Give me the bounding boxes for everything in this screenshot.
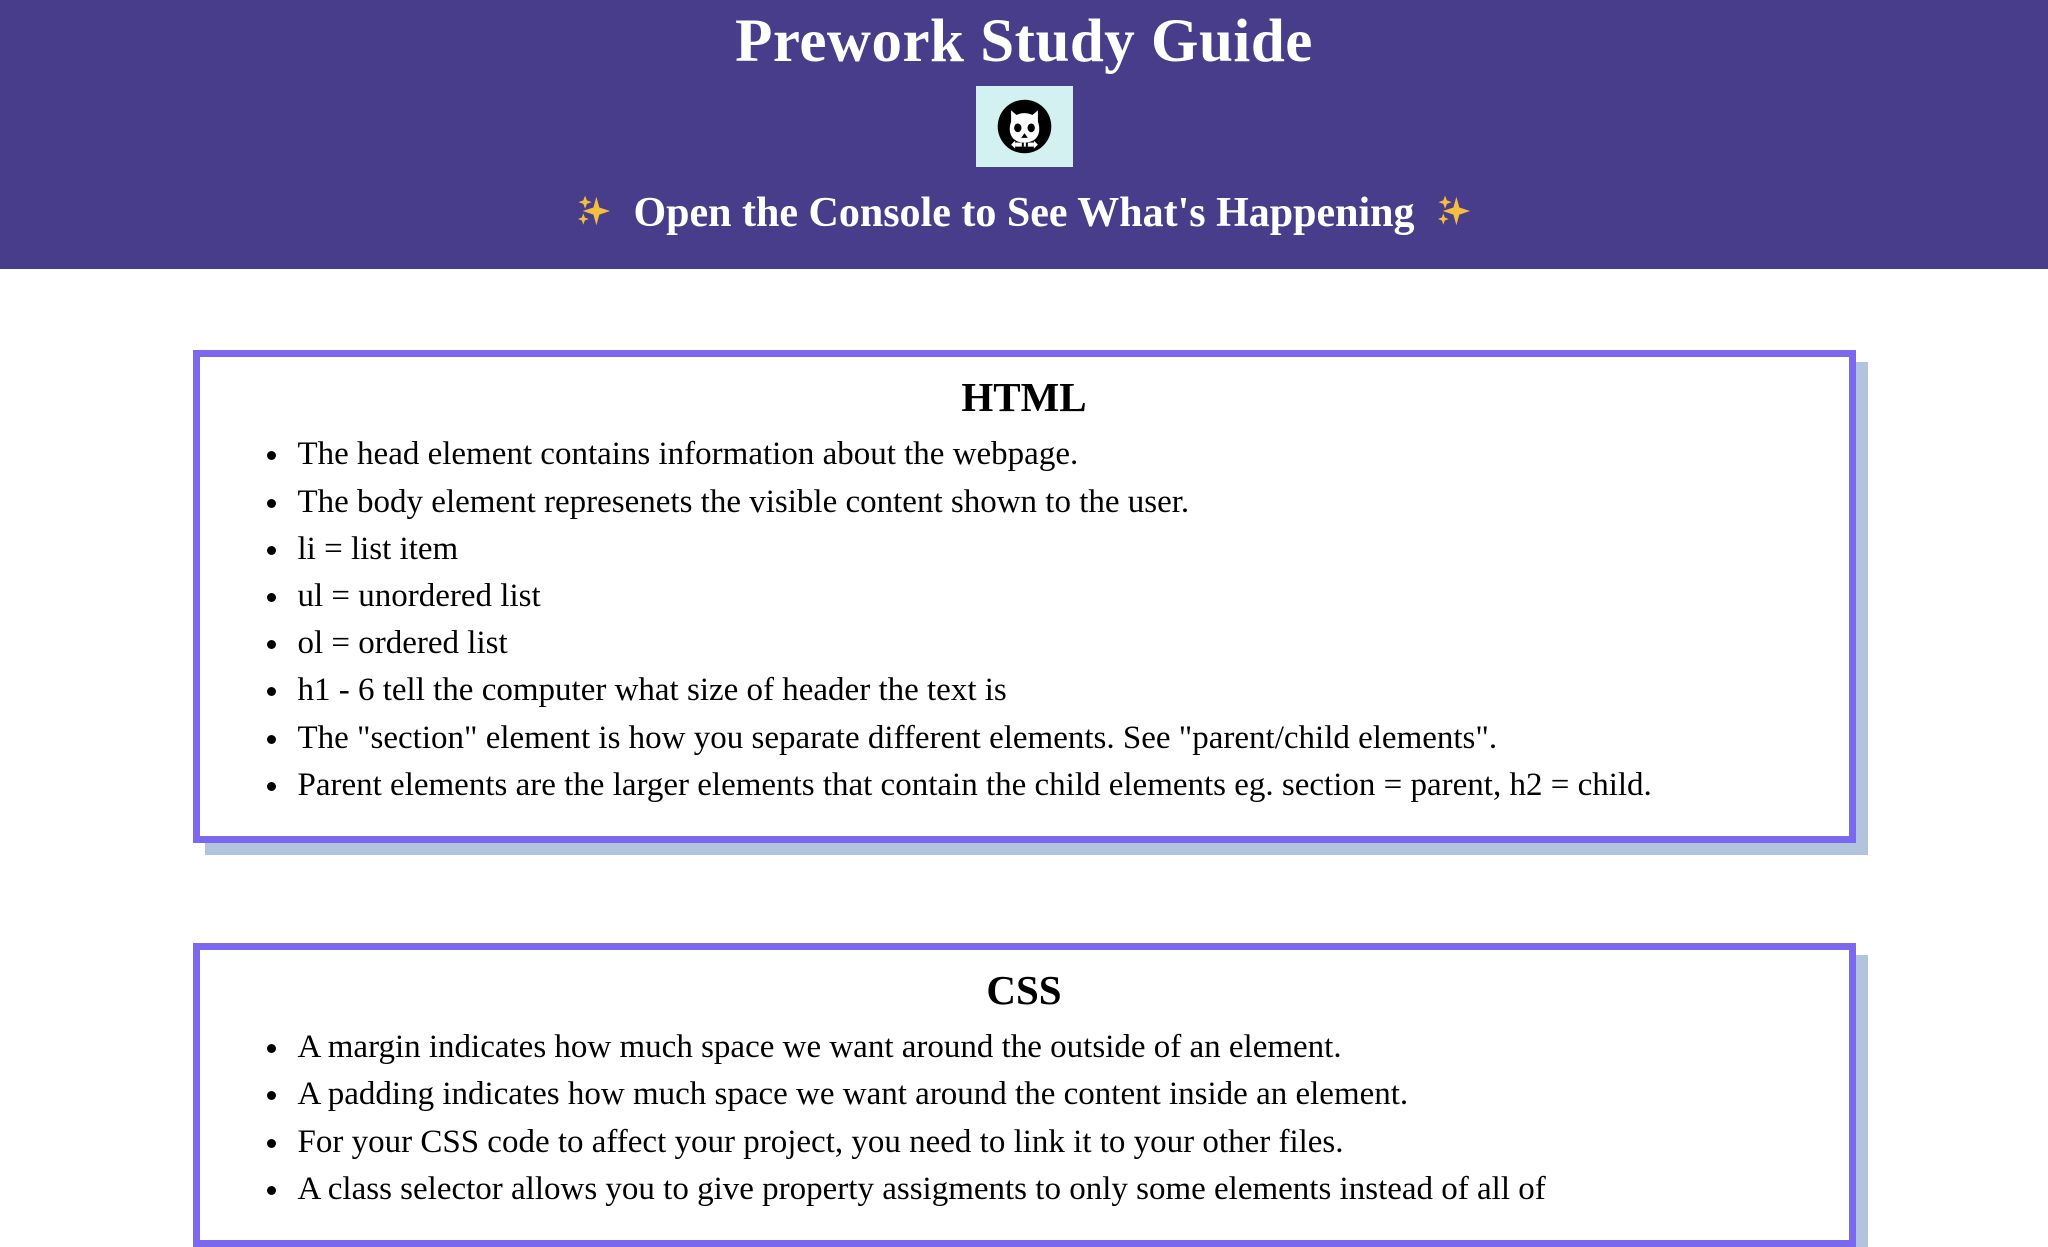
list-item: The "section" element is how you separat… [292, 716, 1815, 761]
list-item: h1 - 6 tell the computer what size of he… [292, 668, 1815, 713]
main-content: HTML The head element contains informati… [0, 350, 2048, 1247]
list-item: The body element represenets the visible… [292, 480, 1815, 525]
sparkles-icon-left [575, 192, 613, 241]
page-subtitle-text: Open the Console to See What's Happening [634, 190, 1415, 236]
list-item: Parent elements are the larger elements … [292, 763, 1815, 808]
cat-skull-icon [991, 93, 1058, 160]
list-item: The head element contains information ab… [292, 432, 1815, 477]
logo-container [976, 86, 1073, 167]
section-card-css: CSS A margin indicates how much space we… [193, 943, 1856, 1247]
list-item: A class selector allows you to give prop… [292, 1167, 1815, 1212]
section-card-html: HTML The head element contains informati… [193, 350, 1856, 843]
list-item: For your CSS code to affect your project… [292, 1120, 1815, 1165]
page-header: Prework Study Guide [0, 0, 2048, 269]
list-item: ol = ordered list [292, 621, 1815, 666]
page-title: Prework Study Guide [0, 0, 2048, 78]
sparkles-icon-right [1435, 192, 1473, 241]
list-item: A padding indicates how much space we wa… [292, 1072, 1815, 1117]
list-item: ul = unordered list [292, 574, 1815, 619]
list-item: A margin indicates how much space we wan… [292, 1025, 1815, 1070]
section-title-html: HTML [234, 371, 1815, 424]
list-item: li = list item [292, 527, 1815, 572]
section-title-css: CSS [234, 964, 1815, 1017]
page-subtitle: Open the Console to See What's Happening [0, 167, 2048, 241]
study-list-css: A margin indicates how much space we wan… [234, 1025, 1815, 1212]
study-list-html: The head element contains information ab… [234, 432, 1815, 808]
